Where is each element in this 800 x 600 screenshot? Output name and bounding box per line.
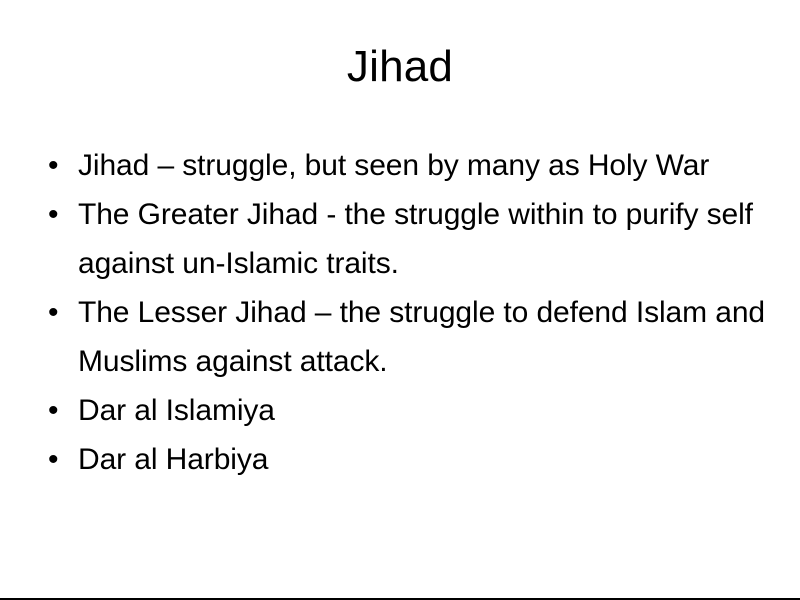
bullet-point-icon: • [48,288,68,337]
list-item: • Jihad – struggle, but seen by many as … [44,141,766,190]
page-title: Jihad [0,40,800,94]
list-item-label: Dar al Islamiya [78,386,766,435]
list-item: • Dar al Islamiya [44,386,766,435]
list-item-label: Dar al Harbiya [78,435,766,484]
list-item-label: The Greater Jihad - the struggle within … [78,190,766,288]
bullet-point-icon: • [48,386,68,435]
presentation-slide: Jihad • Jihad – struggle, but seen by ma… [0,0,800,600]
list-item-label: Jihad – struggle, but seen by many as Ho… [78,141,766,190]
list-item: • The Lesser Jihad – the struggle to def… [44,288,766,386]
list-item: • Dar al Harbiya [44,435,766,484]
list-item-label: The Lesser Jihad – the struggle to defen… [78,288,766,386]
list-item: • The Greater Jihad - the struggle withi… [44,190,766,288]
bullet-list: • Jihad – struggle, but seen by many as … [44,141,766,484]
bullet-point-icon: • [48,141,68,190]
bullet-point-icon: • [48,190,68,239]
bullet-point-icon: • [48,435,68,484]
